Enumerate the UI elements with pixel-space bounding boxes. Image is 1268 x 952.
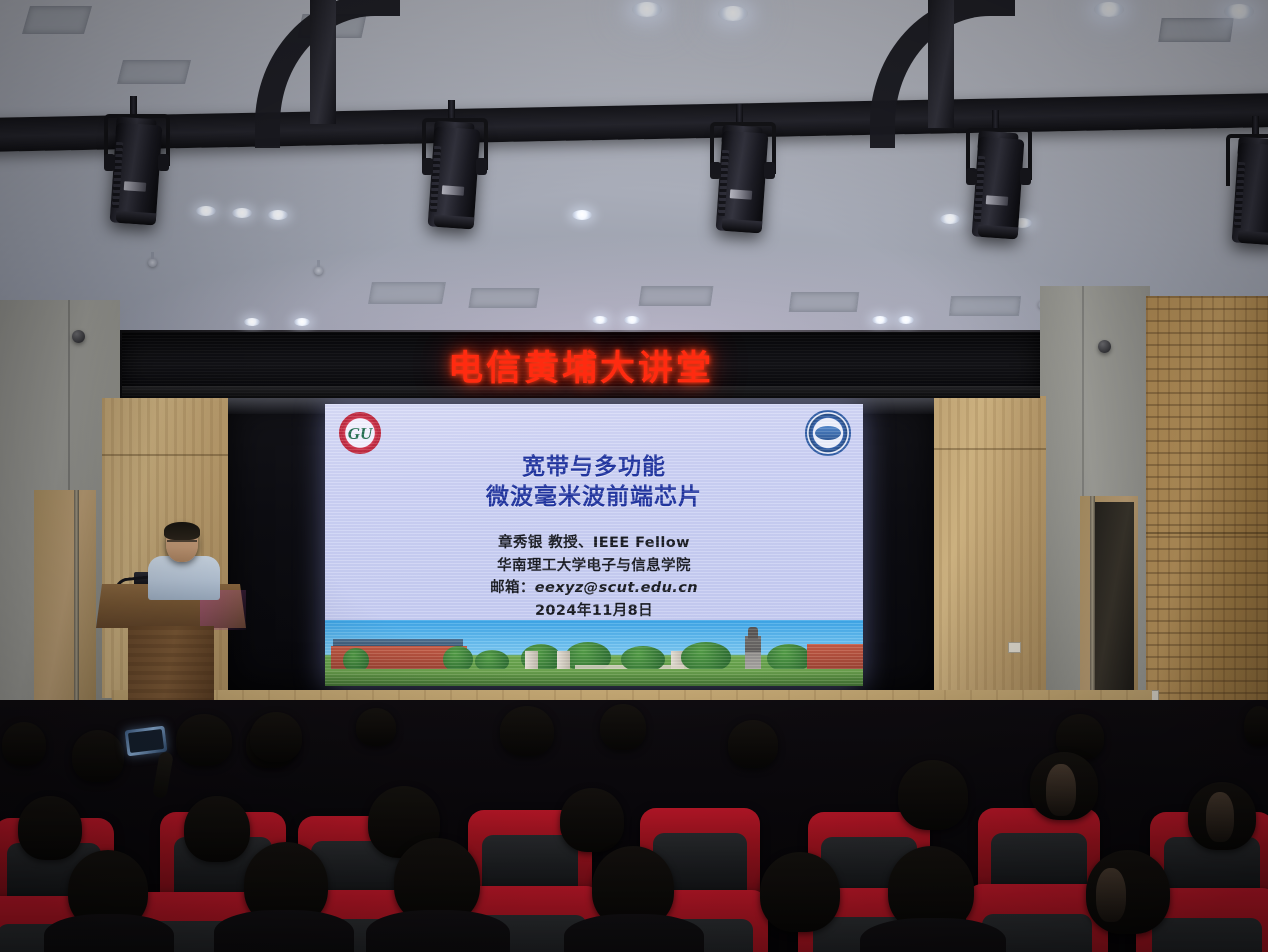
- stage-light-knob: [158, 154, 169, 171]
- podium: [96, 584, 246, 716]
- recessed-ceiling-light: [624, 316, 640, 324]
- stage-light-stem: [992, 110, 999, 130]
- audience-head: [250, 712, 302, 762]
- led-video-wall: GU 宽带与多功能 微波毫米波前端芯片 章秀银 教授、IEEE Fellow 华…: [228, 398, 934, 690]
- led-banner-text: 电信黄埔大讲堂: [448, 340, 714, 391]
- recessed-ceiling-light: [572, 210, 592, 220]
- recessed-ceiling-light: [898, 316, 914, 324]
- ceiling-vent-panel: [468, 288, 539, 308]
- slide-subtitle-block: 章秀银 教授、IEEE Fellow 华南理工大学电子与信息学院 邮箱：eexy…: [325, 532, 863, 622]
- recessed-ceiling-light: [232, 208, 252, 218]
- audience-head: [2, 722, 46, 766]
- stage-spotlight: [100, 108, 174, 230]
- smartphone-screen: [125, 726, 168, 757]
- stage-light-stem: [448, 100, 455, 120]
- campus-tree: [767, 644, 811, 672]
- recessed-ceiling-light: [940, 214, 960, 224]
- audience-head: [898, 760, 968, 830]
- ceiling-vent-panel: [22, 6, 92, 34]
- ceiling-beam: [0, 93, 1268, 152]
- slide-email-label: 邮箱：: [490, 580, 535, 596]
- audience-head: [184, 796, 250, 862]
- slide-affiliation: 华南理工大学电子与信息学院: [325, 555, 863, 578]
- panel-seam: [930, 448, 1046, 450]
- ceiling-beam-rib: [310, 0, 336, 124]
- slide-title-line2: 微波毫米波前端芯片: [325, 482, 863, 512]
- panel-seam: [102, 454, 240, 456]
- audience-head: [356, 708, 396, 746]
- seat-back-pad: [1152, 918, 1263, 952]
- auditorium-lecture-photo: 电信黄埔大讲堂 GU 宽带与多功能 微波毫米波前端芯片 章秀银 教授、IEEE …: [0, 0, 1268, 952]
- acoustic-wood-panel: [1146, 296, 1268, 748]
- recessed-ceiling-light: [1224, 4, 1254, 19]
- campus-building: [807, 644, 863, 670]
- wall-socket[interactable]: [1008, 642, 1021, 653]
- audience-shoulders: [214, 910, 354, 952]
- recessed-ceiling-light: [1094, 2, 1124, 17]
- recessed-ceiling-light: [244, 318, 260, 326]
- right-wood-wall-panel: [930, 396, 1046, 702]
- security-camera-icon: [72, 330, 85, 343]
- stage-spotlight: [418, 112, 492, 234]
- sprinkler-head: [148, 258, 157, 267]
- stage-light-badge: [730, 189, 753, 200]
- audience-head: [560, 788, 624, 852]
- audience-face-highlight: [1046, 764, 1076, 816]
- audience-head: [1244, 706, 1268, 746]
- ceiling-vent-panel: [1158, 18, 1233, 42]
- stage-light-badge: [124, 181, 147, 192]
- stage-light-lens: [1238, 231, 1268, 246]
- campus-lawn: [325, 669, 863, 686]
- stage-light-badge: [986, 195, 1009, 206]
- led-banner: 电信黄埔大讲堂: [122, 332, 1040, 398]
- slide-presenter: 章秀银 教授、IEEE Fellow: [325, 532, 863, 555]
- campus-tree: [681, 642, 731, 672]
- audience-head: [760, 852, 840, 932]
- stage-light-stem: [736, 104, 743, 124]
- sprinkler-head: [314, 266, 323, 275]
- slide-title-line1: 宽带与多功能: [325, 452, 863, 482]
- recessed-ceiling-light: [718, 6, 748, 21]
- stage-light-stem: [1252, 116, 1259, 136]
- audience-head: [18, 796, 82, 860]
- audience-head: [728, 720, 778, 768]
- slide-title: 宽带与多功能 微波毫米波前端芯片: [325, 452, 863, 513]
- recessed-ceiling-light: [268, 210, 288, 220]
- logo-left-mark: GU: [348, 425, 373, 442]
- presenter-hair: [164, 522, 200, 540]
- presentation-slide: GU 宽带与多功能 微波毫米波前端芯片 章秀银 教授、IEEE Fellow 华…: [325, 404, 863, 686]
- raised-arm: [152, 751, 174, 799]
- door-opening: [1090, 502, 1134, 704]
- security-camera-icon: [1098, 340, 1111, 353]
- glasses-icon: [167, 540, 197, 549]
- campus-statue: [745, 636, 761, 670]
- recessed-ceiling-light: [632, 2, 662, 17]
- recessed-ceiling-light: [592, 316, 608, 324]
- audience-shoulders: [366, 910, 510, 952]
- audience-shoulders: [860, 918, 1006, 952]
- stage-light-knob: [966, 168, 977, 185]
- audience-face-highlight: [1096, 868, 1126, 922]
- audience-shoulders: [44, 914, 174, 952]
- ceiling-vent-panel: [789, 292, 859, 312]
- door-edge-strip: [1090, 496, 1095, 708]
- stage-light-knob: [710, 162, 721, 179]
- guangzhou-institute-logo-icon: GU: [339, 412, 381, 454]
- stage-spotlight: [706, 116, 780, 238]
- recessed-ceiling-light: [294, 318, 310, 326]
- left-door[interactable]: [34, 490, 96, 706]
- phone-screen-inner: [128, 729, 164, 753]
- presenter: [148, 524, 220, 596]
- ceiling-vent-panel: [949, 296, 1021, 316]
- presenter-shirt: [148, 556, 220, 600]
- campus-panorama-photo: [325, 620, 863, 686]
- audience-head: [500, 706, 554, 756]
- recessed-ceiling-light: [872, 316, 888, 324]
- recessed-ceiling-light: [196, 206, 216, 216]
- stage-light-knob: [476, 158, 487, 175]
- stage-spotlight: [962, 122, 1036, 244]
- campus-column: [525, 651, 538, 670]
- ceiling-vent-panel: [368, 282, 446, 304]
- ceiling-beam-rib: [928, 0, 954, 128]
- stage-light-knob: [764, 162, 775, 179]
- scut-university-logo-icon: [805, 410, 851, 456]
- stage-light-knob: [104, 154, 115, 171]
- ceiling-vent-panel: [117, 60, 191, 84]
- door-edge-strip: [74, 490, 79, 706]
- audience-head: [600, 704, 646, 750]
- audience-face-highlight: [1206, 792, 1234, 842]
- audience-head: [72, 730, 124, 782]
- stage-light-stem: [130, 96, 137, 116]
- right-door[interactable]: [1080, 496, 1138, 708]
- stage-light-knob: [1020, 168, 1031, 185]
- ceiling-vent-panel: [639, 286, 714, 306]
- logo-right-inner: [815, 426, 841, 440]
- stage-spotlight: [1222, 128, 1268, 250]
- slide-email-value: eexyz@scut.edu.cn: [535, 580, 698, 596]
- ceiling: [0, 0, 1268, 330]
- stage-light-badge: [442, 185, 465, 196]
- campus-column: [557, 651, 570, 670]
- stage-light-knob: [422, 158, 433, 175]
- audience-shoulders: [564, 914, 704, 952]
- audience-head: [176, 714, 232, 766]
- slide-email-line: 邮箱：eexyz@scut.edu.cn: [325, 577, 863, 600]
- audience-area: [0, 700, 1268, 952]
